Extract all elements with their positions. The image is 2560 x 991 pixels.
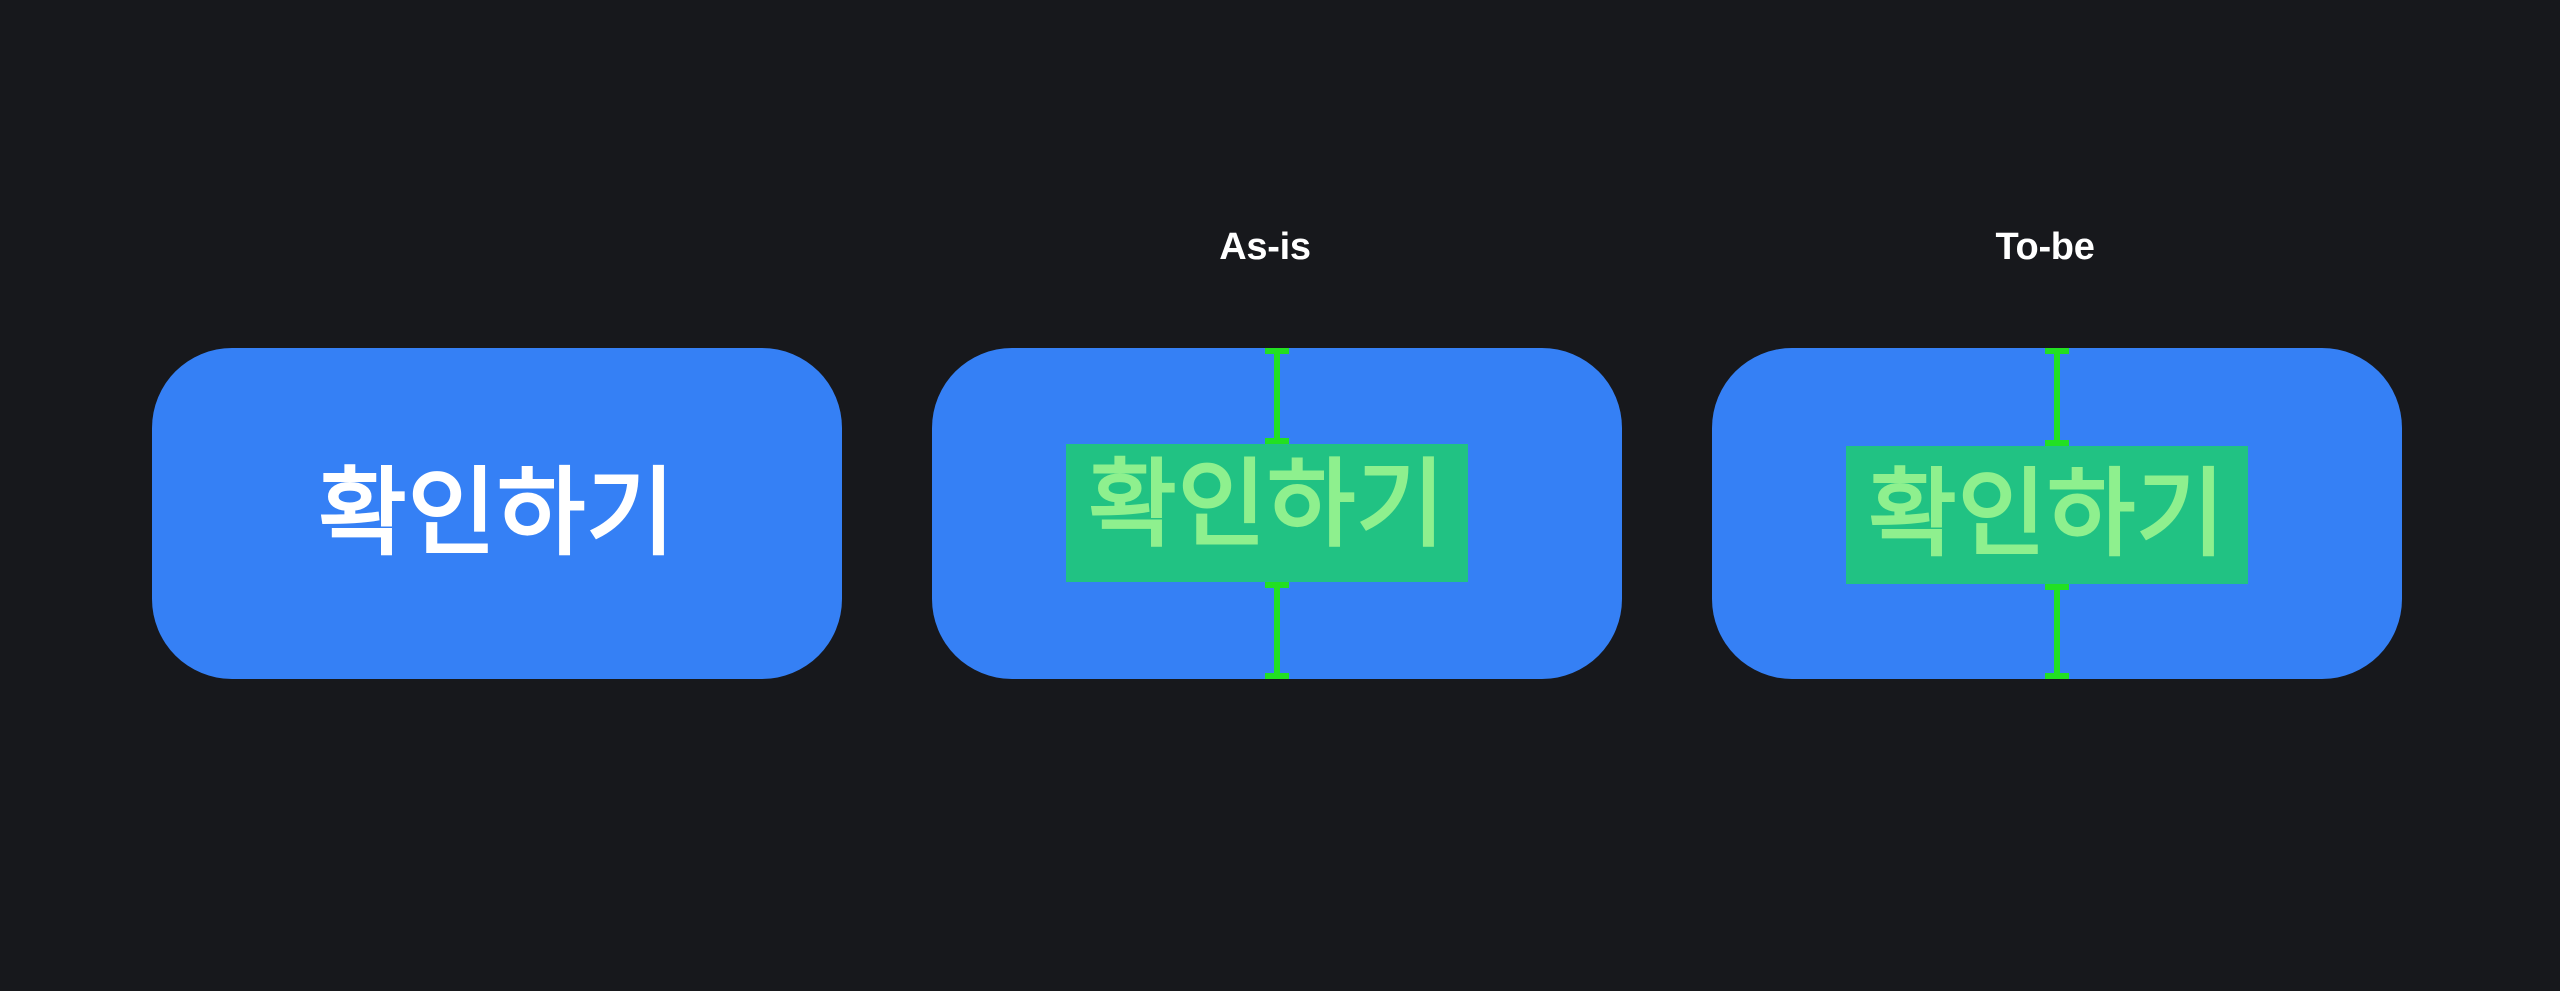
confirm-button-baseline[interactable]: 확인하기 <box>152 348 842 679</box>
button-label-as-is: 확인하기 <box>1066 457 1468 553</box>
column-label-to-be: To-be <box>1785 228 2305 266</box>
column-label-as-is: As-is <box>1005 228 1525 266</box>
diagram-canvas: As-is To-be 확인하기 확인하기 확인하기 <box>0 0 2560 991</box>
text-bounding-box-to-be: 확인하기 <box>1846 446 2248 584</box>
measurement-ruler-top-to-be <box>2054 348 2060 446</box>
button-label-baseline: 확인하기 <box>152 466 842 562</box>
confirm-button-as-is[interactable]: 확인하기 <box>932 348 1622 679</box>
button-label-to-be: 확인하기 <box>1846 467 2248 563</box>
measurement-ruler-bottom-to-be <box>2054 584 2060 679</box>
measurement-ruler-top-as-is <box>1274 348 1280 444</box>
confirm-button-to-be[interactable]: 확인하기 <box>1712 348 2402 679</box>
text-bounding-box-as-is: 확인하기 <box>1066 444 1468 582</box>
measurement-ruler-bottom-as-is <box>1274 582 1280 679</box>
